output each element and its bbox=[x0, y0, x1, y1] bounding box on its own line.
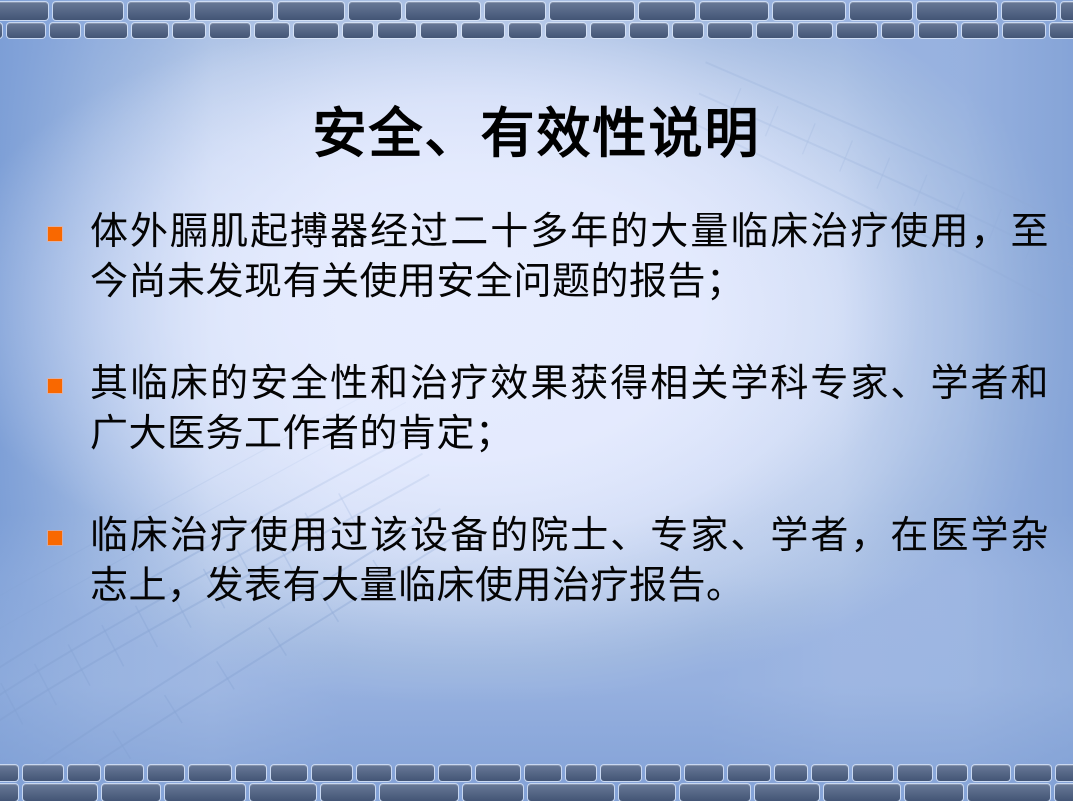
slide-title: 安全、有效性说明 bbox=[0, 104, 1073, 163]
bullet-text: 临床治疗使用过该设备的院士、专家、学者，在医学杂志上，发表有大量临床使用治疗报告… bbox=[90, 510, 1049, 610]
bullet-item: 临床治疗使用过该设备的院士、专家、学者，在医学杂志上，发表有大量临床使用治疗报告… bbox=[0, 510, 1073, 610]
presentation-slide: 安全、有效性说明 体外膈肌起搏器经过二十多年的大量临床治疗使用，至今尚未发现有关… bbox=[0, 0, 1073, 801]
square-bullet-icon bbox=[48, 227, 62, 241]
bullet-item: 体外膈肌起搏器经过二十多年的大量临床治疗使用，至今尚未发现有关使用安全问题的报告… bbox=[0, 206, 1073, 306]
square-bullet-icon bbox=[48, 531, 62, 545]
square-bullet-icon bbox=[48, 379, 62, 393]
bullet-text: 体外膈肌起搏器经过二十多年的大量临床治疗使用，至今尚未发现有关使用安全问题的报告… bbox=[90, 206, 1049, 306]
bullet-text: 其临床的安全性和治疗效果获得相关学科专家、学者和广大医务工作者的肯定； bbox=[90, 358, 1049, 458]
bullet-item: 其临床的安全性和治疗效果获得相关学科专家、学者和广大医务工作者的肯定； bbox=[0, 358, 1073, 458]
slide-content: 安全、有效性说明 体外膈肌起搏器经过二十多年的大量临床治疗使用，至今尚未发现有关… bbox=[0, 0, 1073, 801]
bullet-list: 体外膈肌起搏器经过二十多年的大量临床治疗使用，至今尚未发现有关使用安全问题的报告… bbox=[0, 206, 1073, 662]
